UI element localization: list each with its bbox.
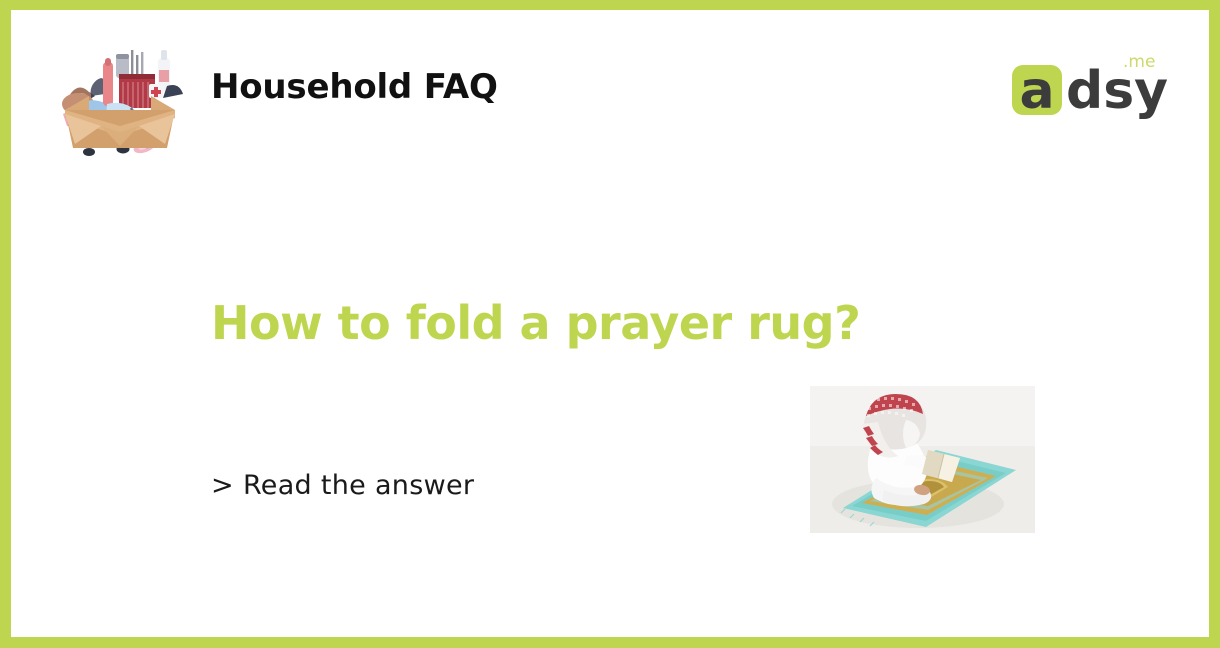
question-heading: How to fold a prayer rug? [211,296,1071,350]
chevron-right-icon: > [211,470,234,501]
household-box-illustration [45,22,195,162]
page-canvas: Household FAQ a dsy .me How to fold a pr… [11,10,1209,637]
read-answer-link[interactable]: >Read the answer [211,470,474,501]
page-frame: Household FAQ a dsy .me How to fold a pr… [0,0,1220,648]
page-title: Household FAQ [211,67,498,107]
read-answer-label: Read the answer [243,470,474,501]
adsy-logo[interactable]: a dsy .me [1011,47,1171,125]
logo-tld-text: .me [1123,52,1155,72]
prayer-rug-photo[interactable] [810,386,1035,533]
logo-mark-letter: a [1019,61,1054,121]
page-header: Household FAQ a dsy .me [11,10,1209,170]
